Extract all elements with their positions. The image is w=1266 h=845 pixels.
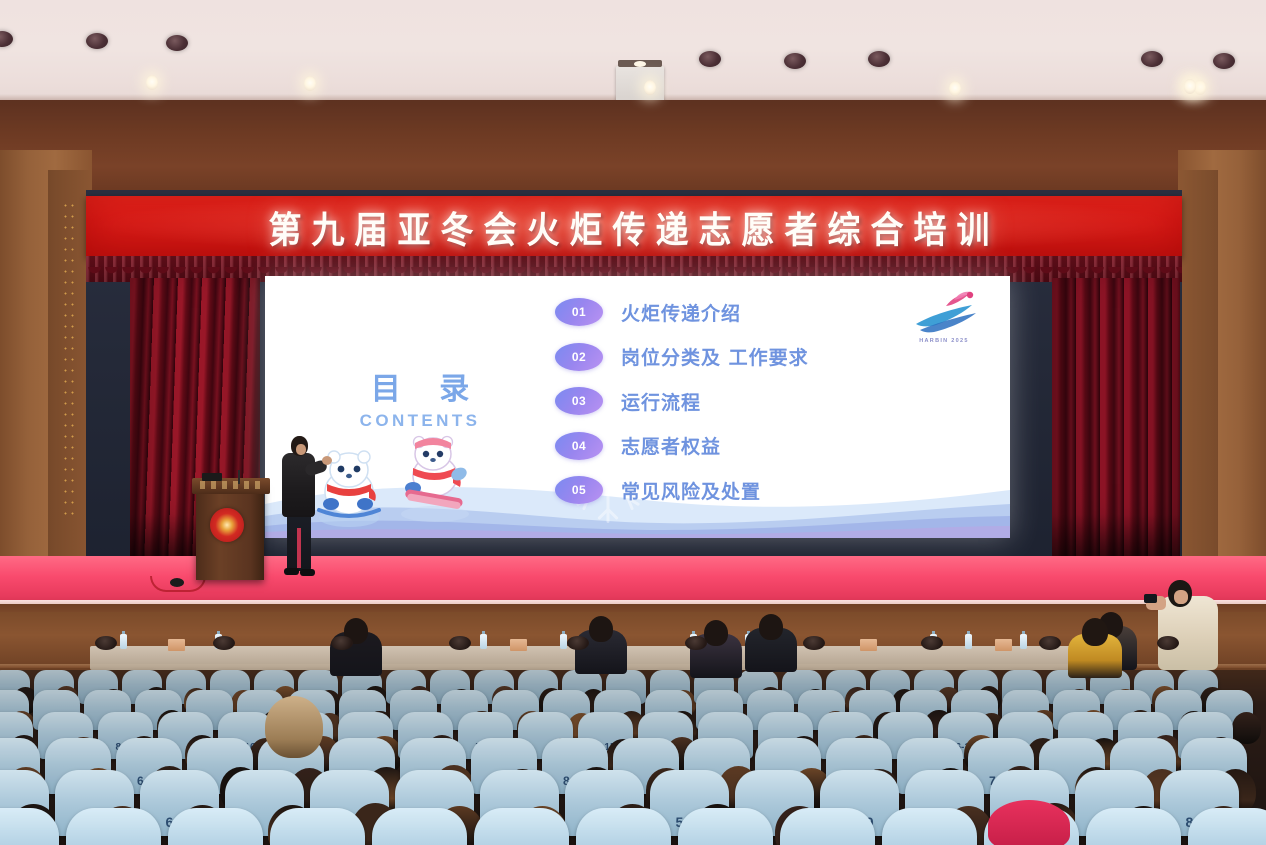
- ceiling-downlight-on: [1184, 79, 1196, 94]
- upper-wood-wall: [0, 100, 1266, 195]
- stage-front-fixture: [449, 636, 471, 650]
- item-number-badge: 04: [555, 432, 603, 460]
- ceiling-downlight-off: [868, 51, 890, 67]
- ceiling-downlight-off: [1213, 53, 1235, 69]
- water-bottle: [120, 634, 127, 649]
- stage-front-fixture: [213, 636, 235, 650]
- item-number-badge: 05: [555, 476, 603, 504]
- seat: [1086, 808, 1181, 845]
- audience-head: [704, 620, 728, 646]
- photographer-coat: [1158, 596, 1218, 670]
- item-label: 志愿者权益: [621, 432, 721, 459]
- podium-monitor: [202, 473, 222, 481]
- audience-area: 8-128-138-168-177-127-157-167-176-136-17…: [0, 612, 1266, 845]
- water-bottle: [480, 634, 487, 649]
- seat: 7-12: [372, 808, 467, 845]
- slide-contents-list: 01 火炬传递介绍 02 岗位分类及 工作要求 03 运行流程 04 志愿者权益…: [555, 294, 975, 517]
- podium-emblem: [210, 508, 244, 542]
- slide-title-block: 目 录 CONTENTS: [320, 364, 520, 431]
- ceiling-downlight-on: [304, 76, 316, 91]
- speaker-shoe-left: [284, 568, 299, 575]
- stage-front-fixture: [95, 636, 117, 650]
- phone-icon: [1144, 594, 1157, 603]
- floor-microphone: [170, 578, 184, 587]
- presentation-screen: HARBIN 2025 目 录 CONTENTS 01 火炬传递介绍 02 岗位…: [265, 276, 1010, 538]
- nini-mascot-snowboarding: [389, 430, 481, 530]
- speaker-leg-gap: [297, 528, 301, 568]
- audience-head: [589, 616, 613, 642]
- item-number-badge: 03: [555, 387, 603, 415]
- podium-microphone: [238, 470, 240, 484]
- list-item: 04 志愿者权益: [555, 428, 975, 464]
- right-stage-curtain: [1052, 278, 1180, 574]
- item-number-badge: 02: [555, 343, 603, 371]
- water-bottle: [1020, 634, 1027, 649]
- ceiling-downlight-off: [166, 35, 188, 51]
- ceiling-downlight-off: [784, 53, 806, 69]
- stage-front-fixture: [567, 636, 589, 650]
- stage-front-fixture: [921, 636, 943, 650]
- speaker-hand: [322, 456, 332, 465]
- stage-front-fixture: [1039, 636, 1061, 650]
- auditorium-photo: 第九届亚冬会火炬传递志愿者综合培训: [0, 0, 1266, 845]
- stage-front-fixture: [803, 636, 825, 650]
- stage-front-fixture: [685, 636, 707, 650]
- stage-front-fixture: [1157, 636, 1179, 650]
- seat: 7-15: [576, 808, 671, 845]
- seat: [678, 808, 773, 845]
- item-label: 火炬传递介绍: [621, 299, 741, 326]
- seat: [882, 808, 977, 845]
- banner-title: 第九届亚冬会火炬传递志愿者综合培训: [269, 201, 1000, 254]
- item-label: 常见风险及处置: [621, 477, 761, 504]
- item-number-badge: 01: [555, 298, 603, 326]
- seat: [474, 808, 569, 845]
- audience-head: [265, 696, 323, 758]
- ceiling-downlight-on: [949, 81, 961, 96]
- item-label: 运行流程: [621, 388, 701, 415]
- audience-head: [1082, 618, 1108, 646]
- slide-title-en: CONTENTS: [320, 411, 520, 431]
- podium-nameplate: [200, 481, 262, 489]
- ceiling-projector: [616, 66, 664, 102]
- audience-red-hat: [988, 800, 1070, 845]
- speaker-shoe-right: [300, 569, 315, 576]
- seat: 8-17: [168, 808, 263, 845]
- table-box: [168, 639, 185, 651]
- ceiling-downlight-off: [699, 51, 721, 67]
- slide-title-cn: 目 录: [320, 364, 520, 408]
- ceiling-downlight-off: [86, 33, 108, 49]
- binbin-mascot: [307, 444, 391, 534]
- table-box: [510, 639, 527, 651]
- seat: 7-16: [780, 808, 875, 845]
- left-wall-light-dots: [62, 200, 78, 520]
- item-label: 岗位分类及 工作要求: [621, 343, 809, 370]
- speaker-face: [296, 444, 306, 455]
- seat: [66, 808, 161, 845]
- photographer-face: [1174, 590, 1188, 604]
- ceiling-downlight-on: [644, 80, 656, 95]
- stage-front-fixture: [331, 636, 353, 650]
- table-box: [860, 639, 877, 651]
- list-item: 02 岗位分类及 工作要求: [555, 339, 975, 375]
- list-item: 03 运行流程: [555, 383, 975, 419]
- water-bottle: [965, 634, 972, 649]
- ceiling-downlight-on: [146, 75, 158, 90]
- list-item: 05 常见风险及处置: [555, 472, 975, 508]
- table-box: [995, 639, 1012, 651]
- audience-head: [759, 614, 783, 640]
- event-banner: 第九届亚冬会火炬传递志愿者综合培训: [86, 196, 1182, 258]
- water-bottle: [560, 634, 567, 649]
- list-item: 01 火炬传递介绍: [555, 294, 975, 330]
- seat: [270, 808, 365, 845]
- seat: 6-13: [1188, 808, 1266, 845]
- ceiling-downlight-off: [1141, 51, 1163, 67]
